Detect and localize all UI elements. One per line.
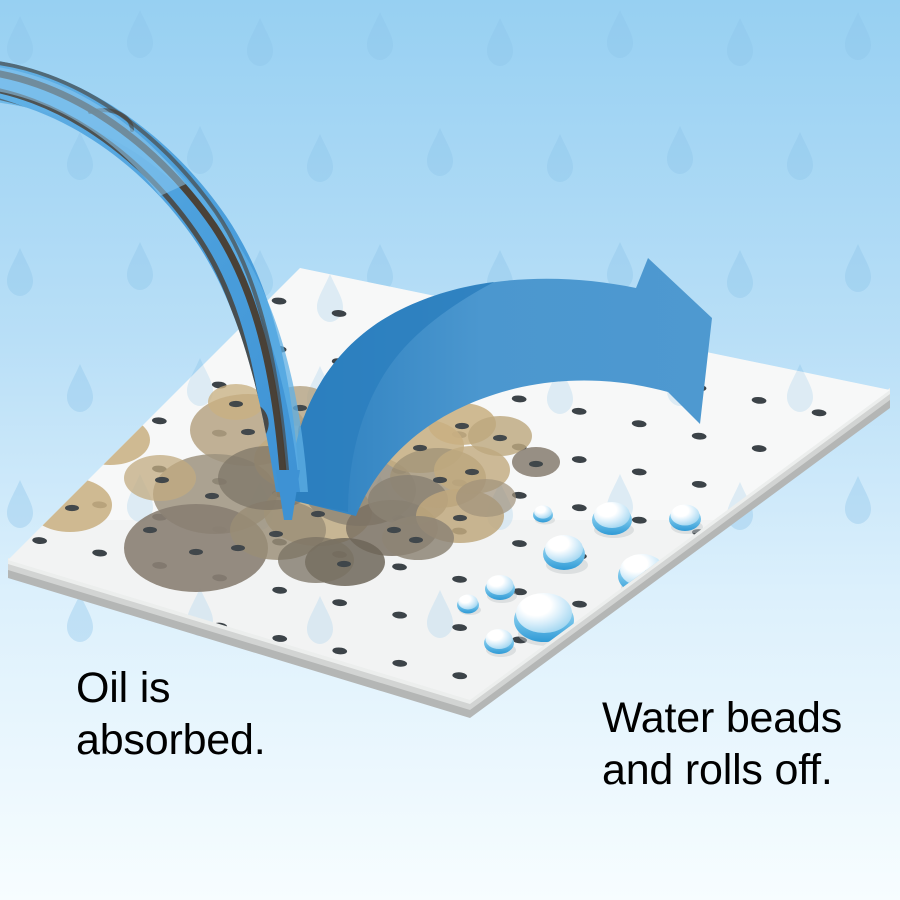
stream-layer [0, 0, 900, 900]
illustration-canvas: Oil is absorbed. Water beads and rolls o… [0, 0, 900, 900]
stream-impact-tip [276, 470, 300, 520]
